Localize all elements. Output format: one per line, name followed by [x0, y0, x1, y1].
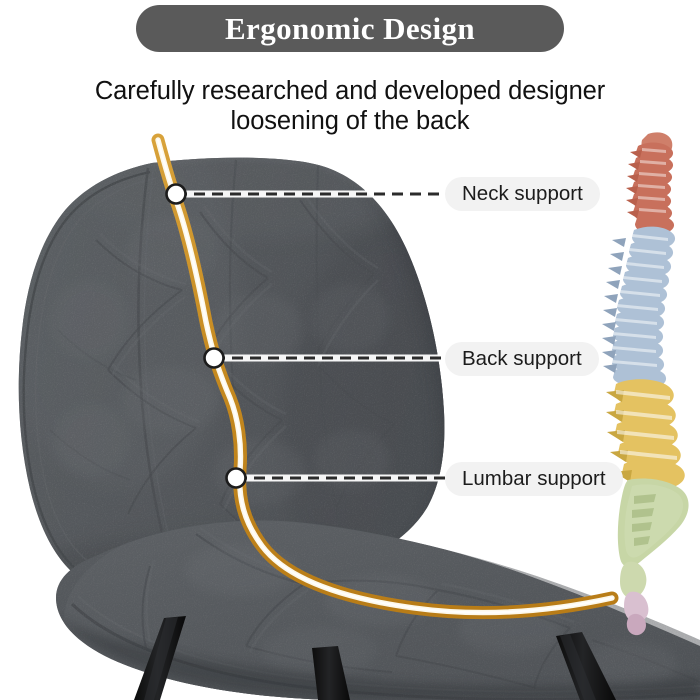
marker-neck-support — [167, 185, 186, 204]
callout-neck-support: Neck support — [445, 177, 600, 211]
marker-back-support — [205, 349, 224, 368]
callout-lumbar-support: Lumbar support — [445, 462, 623, 496]
callout-lumbar-label: Lumbar support — [462, 469, 606, 490]
callout-back-label: Back support — [462, 349, 582, 370]
callout-back-support: Back support — [445, 342, 599, 376]
spine-cervical — [626, 132, 674, 235]
marker-lumbar-support — [227, 469, 246, 488]
infographic-page: Ergonomic Design Carefully researched an… — [0, 0, 700, 700]
spine-sacrum — [618, 478, 689, 635]
callout-neck-label: Neck support — [462, 184, 583, 205]
spine-illustration — [602, 132, 689, 635]
